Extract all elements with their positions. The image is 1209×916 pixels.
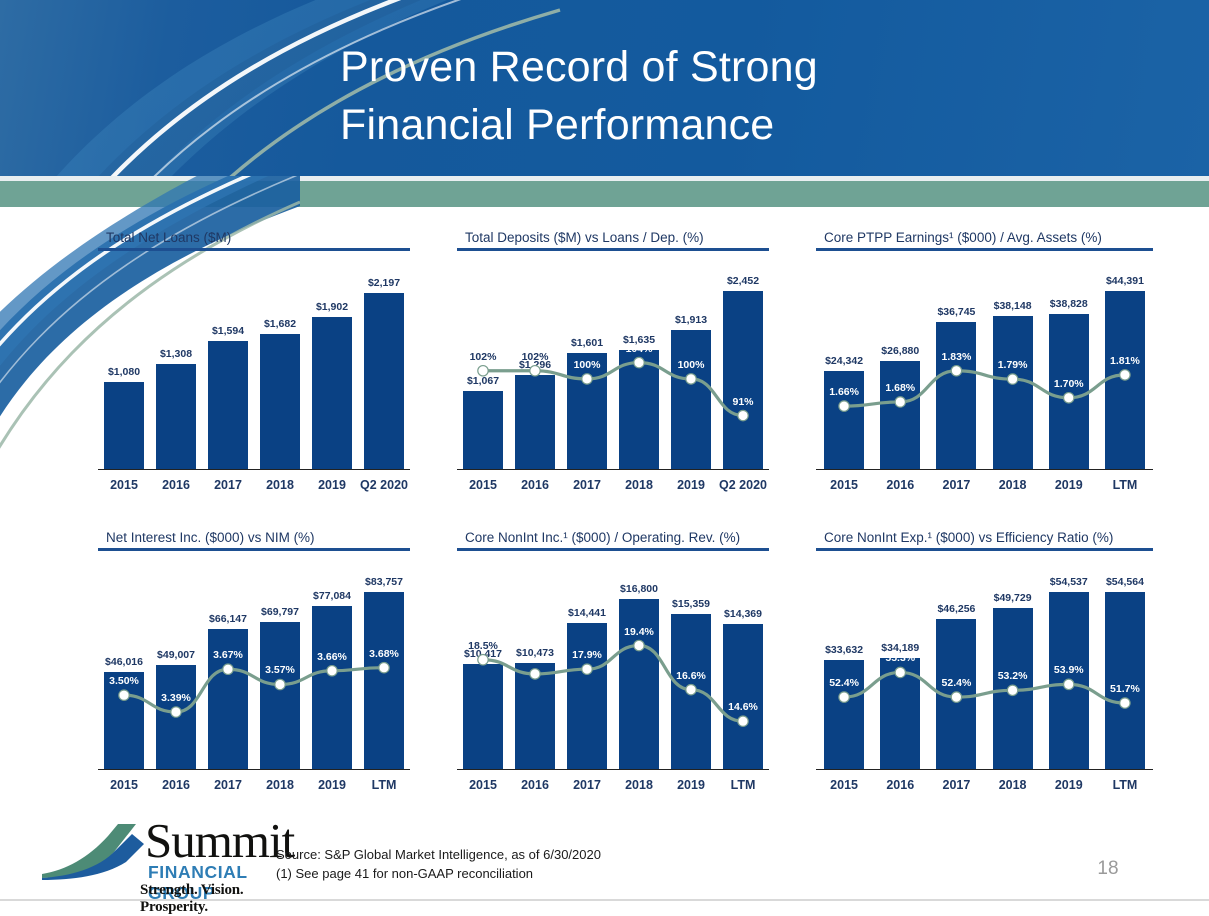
line-point-label: 3.66% (317, 651, 347, 663)
plot-area: $1,080$1,308$1,594$1,682$1,902$2,1972015… (98, 251, 410, 500)
page-title: Proven Record of Strong Financial Perfor… (340, 38, 1040, 154)
bar (260, 622, 300, 769)
line-point-label: 18.5% (468, 640, 498, 652)
x-axis-tick-label: Q2 2020 (358, 478, 410, 492)
x-axis-tick-label: 2019 (665, 778, 717, 792)
line-point-label: 53.9% (1054, 664, 1084, 676)
bar (1105, 291, 1145, 468)
bar (1049, 314, 1089, 469)
bar-group: $46,256 (928, 551, 984, 769)
bar-group: $26,880 (872, 251, 928, 469)
bar (463, 664, 503, 769)
source-note: Source: S&P Global Market Intelligence, … (276, 845, 601, 883)
mountain-logo-icon (40, 822, 152, 880)
bar-group: $14,369 (717, 551, 769, 769)
bar-value-label: $49,007 (157, 649, 195, 661)
line-point-label: 1.70% (1054, 378, 1084, 390)
bar (515, 663, 555, 769)
line-point-label: 1.79% (998, 359, 1028, 371)
bar-group: $83,757 (358, 551, 410, 769)
bar-group: $1,682 (254, 251, 306, 469)
bar-value-label: $54,564 (1106, 576, 1144, 588)
chart-panel-core-nonint-income: Core NonInt Inc.¹ ($000) / Operating. Re… (457, 530, 769, 805)
bar-value-label: $49,729 (994, 592, 1032, 604)
bar-group: $54,537 (1041, 551, 1097, 769)
plot-area: $10,417$10,473$14,441$16,800$15,359$14,3… (457, 551, 769, 800)
line-point-label: 102% (470, 351, 497, 363)
bar-value-label: $77,084 (313, 590, 351, 602)
x-axis-tick-label: 2016 (509, 778, 561, 792)
x-axis (98, 769, 410, 771)
slide-header: Proven Record of Strong Financial Perfor… (0, 0, 1209, 176)
bar-series: $1,067$1,296$1,601$1,635$1,913$2,452 (457, 251, 769, 469)
bar-value-label: $1,594 (212, 325, 244, 337)
bar-group: $1,594 (202, 251, 254, 469)
bar-group: $49,729 (985, 551, 1041, 769)
chart-title: Total Deposits ($M) vs Loans / Dep. (%) (457, 230, 769, 245)
line-point-label: 17.9% (572, 649, 602, 661)
bar-group: $24,342 (816, 251, 872, 469)
chart-panel-core-nonint-expense: Core NonInt Exp.¹ ($000) vs Efficiency R… (816, 530, 1153, 805)
x-axis-tick-label: 2016 (872, 478, 928, 492)
line-point-label: 3.67% (213, 649, 243, 661)
bar-value-label: $2,197 (368, 277, 400, 289)
bar-group: $69,797 (254, 551, 306, 769)
x-axis (816, 769, 1153, 771)
plot-area: $46,016$49,007$66,147$69,797$77,084$83,7… (98, 551, 410, 800)
x-axis-tick-label: 2018 (613, 478, 665, 492)
x-axis-tick-label: 2016 (872, 778, 928, 792)
line-point-label: 1.68% (885, 382, 915, 394)
bar-value-label: $46,256 (937, 603, 975, 615)
x-axis-tick-label: Q2 2020 (717, 478, 769, 492)
bar (993, 316, 1033, 468)
line-point-label: 3.68% (369, 648, 399, 660)
bar-value-label: $26,880 (881, 345, 919, 357)
bar-value-label: $14,369 (724, 608, 762, 620)
x-axis (457, 769, 769, 771)
bar-value-label: $69,797 (261, 606, 299, 618)
line-point-label: 1.83% (942, 351, 972, 363)
x-axis-tick-label: 2016 (150, 778, 202, 792)
line-point-label: 102% (522, 351, 549, 363)
bar (208, 341, 248, 468)
x-axis-tick-label: 2018 (985, 478, 1041, 492)
x-axis-labels: 20152016201720182019LTM (98, 772, 410, 798)
bar-value-label: $24,342 (825, 355, 863, 367)
bar-group: $1,635 (613, 251, 665, 469)
bar-value-label: $14,441 (568, 607, 606, 619)
x-axis-tick-label: 2017 (561, 778, 613, 792)
chart-title: Core PTPP Earnings¹ ($000) / Avg. Assets… (816, 230, 1153, 245)
bar (312, 606, 352, 768)
summit-financial-group-logo: Summit FINANCIAL GROUP Strength. Vision.… (40, 818, 270, 904)
bar (156, 364, 196, 468)
bar (260, 334, 300, 468)
x-axis-tick-label: 2019 (665, 478, 717, 492)
bar-value-label: $54,537 (1050, 576, 1088, 588)
bar (619, 350, 659, 468)
chart-panel-total-net-loans: Total Net Loans ($M)$1,080$1,308$1,594$1… (98, 230, 410, 505)
bar (515, 375, 555, 469)
bar-value-label: $1,913 (675, 314, 707, 326)
x-axis-tick-label: 2015 (457, 478, 509, 492)
bar (156, 665, 196, 768)
line-point-label: 55.3% (885, 652, 915, 664)
logo-wordmark: Summit (145, 816, 294, 865)
bar-value-label: $15,359 (672, 598, 710, 610)
x-axis-tick-label: 2016 (150, 478, 202, 492)
chart-title: Core NonInt Inc.¹ ($000) / Operating. Re… (457, 530, 769, 545)
plot-area: $33,632$34,189$46,256$49,729$54,537$54,5… (816, 551, 1153, 800)
x-axis-tick-label: 2018 (254, 778, 306, 792)
line-point-label: 51.7% (1110, 683, 1140, 695)
bar-group: $1,902 (306, 251, 358, 469)
line-point-label: 53.2% (998, 670, 1028, 682)
bar-value-label: $36,745 (937, 306, 975, 318)
bar-series: $46,016$49,007$66,147$69,797$77,084$83,7… (98, 551, 410, 769)
bar-group: $1,308 (150, 251, 202, 469)
bar-value-label: $1,601 (571, 337, 603, 349)
bar-group: $15,359 (665, 551, 717, 769)
bar-group: $54,564 (1097, 551, 1153, 769)
line-point-label: 3.50% (109, 675, 139, 687)
x-axis-tick-label: 2015 (98, 478, 150, 492)
x-axis-tick-label: LTM (358, 778, 410, 792)
plot-area: $24,342$26,880$36,745$38,148$38,828$44,3… (816, 251, 1153, 500)
bar (671, 330, 711, 469)
bar (1049, 592, 1089, 768)
bar (364, 592, 404, 768)
line-point-label: 100% (678, 359, 705, 371)
x-axis-labels: 20152016201720182019LTM (816, 772, 1153, 798)
bar (567, 623, 607, 769)
line-point-label: 17.6% (520, 654, 550, 666)
bar-value-label: $46,016 (105, 656, 143, 668)
bar-value-label: $1,682 (264, 318, 296, 330)
bar-group: $49,007 (150, 551, 202, 769)
line-point-label: 16.6% (676, 670, 706, 682)
bar-value-label: $1,308 (160, 348, 192, 360)
x-axis-tick-label: 2019 (1041, 478, 1097, 492)
x-axis-tick-label: 2015 (816, 478, 872, 492)
bar-value-label: $1,902 (316, 301, 348, 313)
bar-value-label: $2,452 (727, 275, 759, 287)
bar-value-label: $1,067 (467, 375, 499, 387)
x-axis-tick-label: 2016 (509, 478, 561, 492)
plot-area: $1,067$1,296$1,601$1,635$1,913$2,452102%… (457, 251, 769, 500)
x-axis-tick-label: 2015 (816, 778, 872, 792)
x-axis-tick-label: 2019 (306, 778, 358, 792)
bar-value-label: $1,080 (108, 366, 140, 378)
bar-value-label: $83,757 (365, 576, 403, 588)
bar-value-label: $38,828 (1050, 298, 1088, 310)
bar-value-label: $16,800 (620, 583, 658, 595)
bar (936, 619, 976, 768)
line-point-label: 3.57% (265, 664, 295, 676)
bar-series: $10,417$10,473$14,441$16,800$15,359$14,3… (457, 551, 769, 769)
bar-group: $1,080 (98, 251, 150, 469)
x-axis-tick-label: LTM (1097, 778, 1153, 792)
bar (104, 382, 144, 468)
bar-group: $2,452 (717, 251, 769, 469)
x-axis-tick-label: 2017 (928, 778, 984, 792)
bar-series: $1,080$1,308$1,594$1,682$1,902$2,197 (98, 251, 410, 469)
bar-group: $33,632 (816, 551, 872, 769)
x-axis-labels: 20152016201720182019Q2 2020 (457, 472, 769, 498)
x-axis-tick-label: 2018 (254, 478, 306, 492)
x-axis-tick-label: LTM (1097, 478, 1153, 492)
bar (723, 624, 763, 769)
chart-panel-total-deposits: Total Deposits ($M) vs Loans / Dep. (%)$… (457, 230, 769, 505)
chart-title: Core NonInt Exp.¹ ($000) vs Efficiency R… (816, 530, 1153, 545)
bar-series: $33,632$34,189$46,256$49,729$54,537$54,5… (816, 551, 1153, 769)
x-axis (816, 469, 1153, 471)
chart-panel-net-interest-income: Net Interest Inc. ($000) vs NIM (%)$46,0… (98, 530, 410, 805)
page-number: 18 (1088, 858, 1128, 880)
x-axis-tick-label: 2018 (613, 778, 665, 792)
x-axis-tick-label: LTM (717, 778, 769, 792)
line-point-label: 91% (732, 396, 753, 408)
x-axis-tick-label: 2017 (561, 478, 613, 492)
line-point-label: 1.81% (1110, 355, 1140, 367)
line-point-label: 104% (626, 343, 653, 355)
header-green-band (0, 181, 1209, 207)
line-point-label: 52.4% (942, 677, 972, 689)
bar-series: $24,342$26,880$36,745$38,148$38,828$44,3… (816, 251, 1153, 469)
x-axis-tick-label: 2019 (306, 478, 358, 492)
x-axis-tick-label: 2019 (1041, 778, 1097, 792)
bar (671, 614, 711, 769)
bar (993, 608, 1033, 769)
bar-group: $2,197 (358, 251, 410, 469)
bar-group: $10,417 (457, 551, 509, 769)
bar-value-label: $66,147 (209, 613, 247, 625)
bar (463, 391, 503, 468)
line-point-label: 3.39% (161, 692, 191, 704)
bar (936, 322, 976, 469)
chart-title: Net Interest Inc. ($000) vs NIM (%) (98, 530, 410, 545)
bar (312, 317, 352, 469)
x-axis-tick-label: 2017 (928, 478, 984, 492)
x-axis (457, 469, 769, 471)
x-axis-labels: 20152016201720182019Q2 2020 (98, 472, 410, 498)
line-point-label: 19.4% (624, 626, 654, 638)
bar-value-label: $38,148 (994, 300, 1032, 312)
x-axis-tick-label: 2017 (202, 478, 254, 492)
bar-group: $16,800 (613, 551, 665, 769)
x-axis-tick-label: 2017 (202, 778, 254, 792)
bar-group: $38,828 (1041, 251, 1097, 469)
bar (880, 361, 920, 468)
chart-title: Total Net Loans ($M) (98, 230, 410, 245)
line-point-label: 1.66% (829, 386, 859, 398)
bar-value-label: $33,632 (825, 644, 863, 656)
x-axis-labels: 20152016201720182019LTM (457, 772, 769, 798)
bar (723, 291, 763, 469)
bar-group: $46,016 (98, 551, 150, 769)
line-point-label: 52.4% (829, 677, 859, 689)
bar (880, 658, 920, 768)
x-axis (98, 469, 410, 471)
bar (364, 293, 404, 468)
line-point-label: 14.6% (728, 701, 758, 713)
bar (1105, 592, 1145, 768)
x-axis-tick-label: 2018 (985, 778, 1041, 792)
line-point-label: 100% (574, 359, 601, 371)
bar-value-label: $44,391 (1106, 275, 1144, 287)
x-axis-labels: 20152016201720182019LTM (816, 472, 1153, 498)
chart-panel-core-ptpp-earnings: Core PTPP Earnings¹ ($000) / Avg. Assets… (816, 230, 1153, 505)
x-axis-tick-label: 2015 (457, 778, 509, 792)
x-axis-tick-label: 2015 (98, 778, 150, 792)
